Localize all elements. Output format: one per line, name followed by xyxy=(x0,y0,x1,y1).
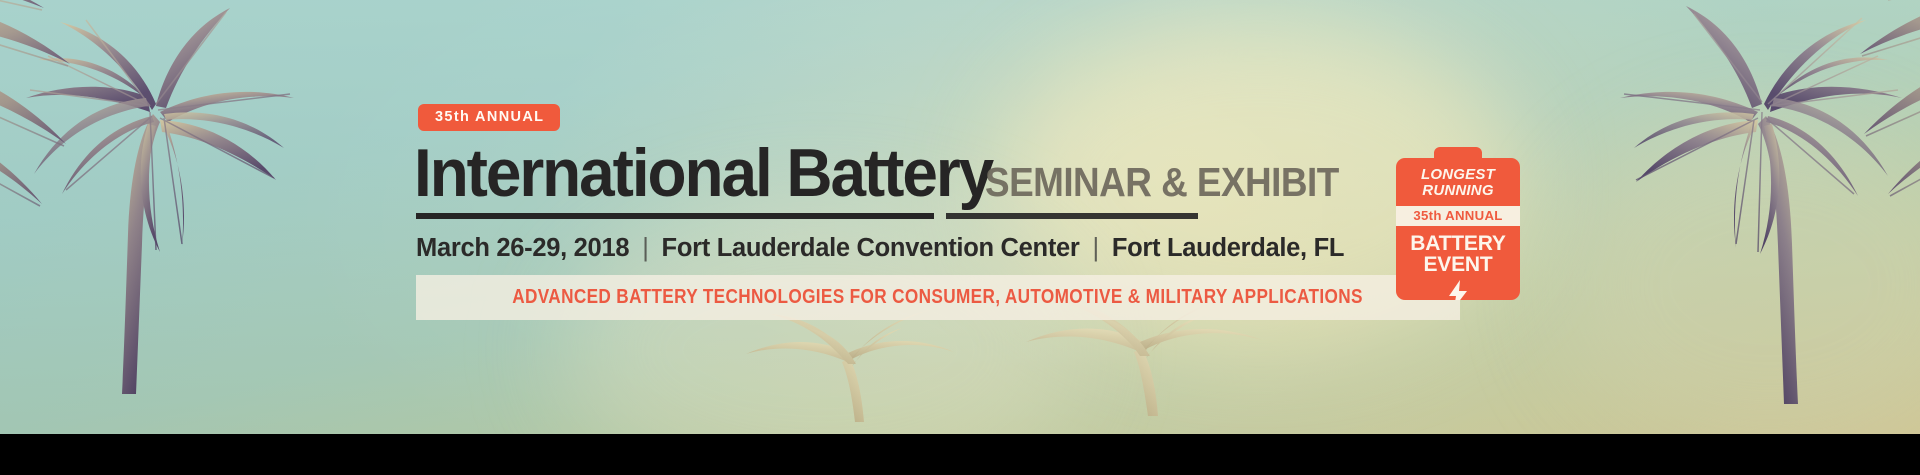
badge-event-line-1: BATTERY xyxy=(1410,233,1505,254)
banner-content: 35th ANNUAL International Battery SEMINA… xyxy=(414,104,1474,320)
badge-event-line-2: EVENT xyxy=(1410,254,1505,275)
palm-tree-icon xyxy=(1760,0,1920,290)
sky-bloom xyxy=(1560,120,1920,434)
page-subtitle: SEMINAR & EXHIBIT xyxy=(985,162,1339,203)
palm-tree-icon xyxy=(1590,0,1920,404)
tagline-strip: ADVANCED BATTERY TECHNOLOGIES FOR CONSUM… xyxy=(416,275,1460,320)
event-banner: 35th ANNUAL International Battery SEMINA… xyxy=(0,0,1920,475)
badge-event-text: BATTERY EVENT xyxy=(1410,233,1505,275)
detail-separator: | xyxy=(1093,234,1099,263)
badge-line-2: RUNNING xyxy=(1421,183,1495,199)
palm-tree-icon xyxy=(0,0,320,394)
badge-longest-running: LONGEST RUNNING xyxy=(1421,167,1495,199)
event-venue: Fort Lauderdale Convention Center xyxy=(662,234,1080,263)
rule-title xyxy=(416,213,934,219)
detail-separator: | xyxy=(642,234,648,263)
rule-gap xyxy=(934,213,946,219)
event-city: Fort Lauderdale, FL xyxy=(1112,234,1344,263)
annual-badge-pill: 35th ANNUAL xyxy=(418,104,560,131)
badge-annual-strip: 35th ANNUAL xyxy=(1396,206,1520,226)
headline-rules xyxy=(416,213,1474,219)
longest-running-battery-badge: LONGEST RUNNING 35th ANNUAL BATTERY EVEN… xyxy=(1396,158,1520,300)
badge-line-1: LONGEST xyxy=(1421,167,1495,183)
event-details-line: March 26-29, 2018 | Fort Lauderdale Conv… xyxy=(416,234,1474,263)
banner-headline: International Battery SEMINAR & EXHIBIT xyxy=(414,140,1474,207)
bottom-black-bar xyxy=(0,434,1920,475)
tagline-text: ADVANCED BATTERY TECHNOLOGIES FOR CONSUM… xyxy=(513,286,1364,309)
battery-body-icon: LONGEST RUNNING 35th ANNUAL BATTERY EVEN… xyxy=(1396,158,1520,300)
rule-subtitle xyxy=(946,213,1198,219)
lightning-bolt-icon xyxy=(1447,280,1469,300)
palm-tree-icon xyxy=(0,0,160,290)
event-date: March 26-29, 2018 xyxy=(416,234,629,263)
page-title: International Battery xyxy=(414,140,992,207)
